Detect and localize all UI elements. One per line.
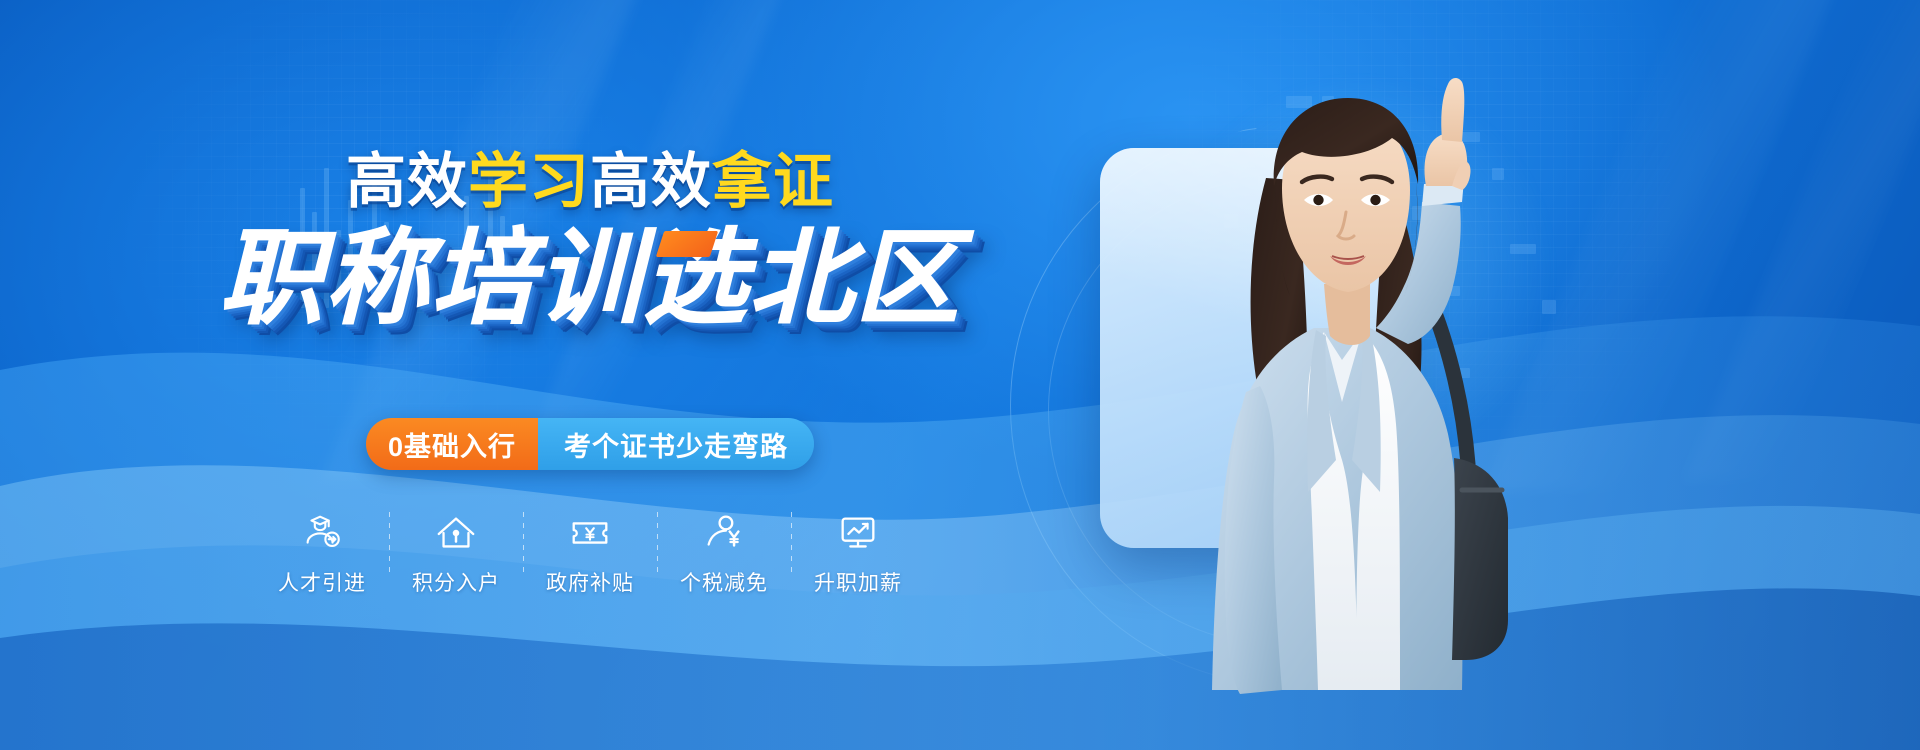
feature-label: 人才引进 — [278, 567, 366, 597]
headline-seg-1: 高效 — [346, 148, 468, 215]
orange-accent-wedge — [656, 231, 718, 257]
model-composition — [1180, 0, 1920, 750]
badge-left-label: 0基础入行 — [366, 418, 538, 470]
headline-seg-2: 学习 — [468, 148, 590, 215]
headline-seg-4: 拿证 — [712, 148, 834, 215]
ticket-yuan-icon — [567, 510, 613, 556]
feature-label: 升职加薪 — [814, 567, 902, 597]
headline-line-2: 职称培训选北区 — [219, 225, 961, 334]
feature-item-points-residency[interactable]: 积分入户 — [390, 510, 523, 597]
headline-seg-3: 高效 — [590, 148, 712, 215]
growth-chart-icon — [835, 510, 881, 556]
badge-right-label: 考个证书少走弯路 — [538, 418, 814, 470]
headline-line-2-wrap: 职称培训选北区 — [0, 225, 1180, 334]
feature-label: 积分入户 — [412, 567, 500, 597]
instructor-photo — [1070, 60, 1710, 750]
feature-item-promotion-raise[interactable]: 升职加薪 — [792, 510, 925, 597]
feature-item-government-subsidy[interactable]: 政府补贴 — [524, 510, 657, 597]
graduate-person-icon — [299, 510, 345, 556]
feature-item-tax-reduction[interactable]: 个税减免 — [658, 510, 791, 597]
tagline-badge-inner: 0基础入行 考个证书少走弯路 — [366, 418, 814, 470]
house-pin-icon — [433, 510, 479, 556]
feature-label: 个税减免 — [680, 567, 768, 597]
content-column: 高效学习高效拿证 职称培训选北区 0基础入行 考个证书少走弯路 — [0, 0, 1180, 750]
promo-banner: 高效学习高效拿证 职称培训选北区 0基础入行 考个证书少走弯路 — [0, 0, 1920, 750]
tagline-badge: 0基础入行 考个证书少走弯路 — [0, 418, 1180, 470]
feature-row: 人才引进 积分入户 — [0, 510, 1180, 597]
headline-line-1: 高效学习高效拿证 — [0, 152, 1180, 212]
person-yuan-icon — [701, 510, 747, 556]
feature-label: 政府补贴 — [546, 567, 634, 597]
feature-item-talent-introduction[interactable]: 人才引进 — [256, 510, 389, 597]
